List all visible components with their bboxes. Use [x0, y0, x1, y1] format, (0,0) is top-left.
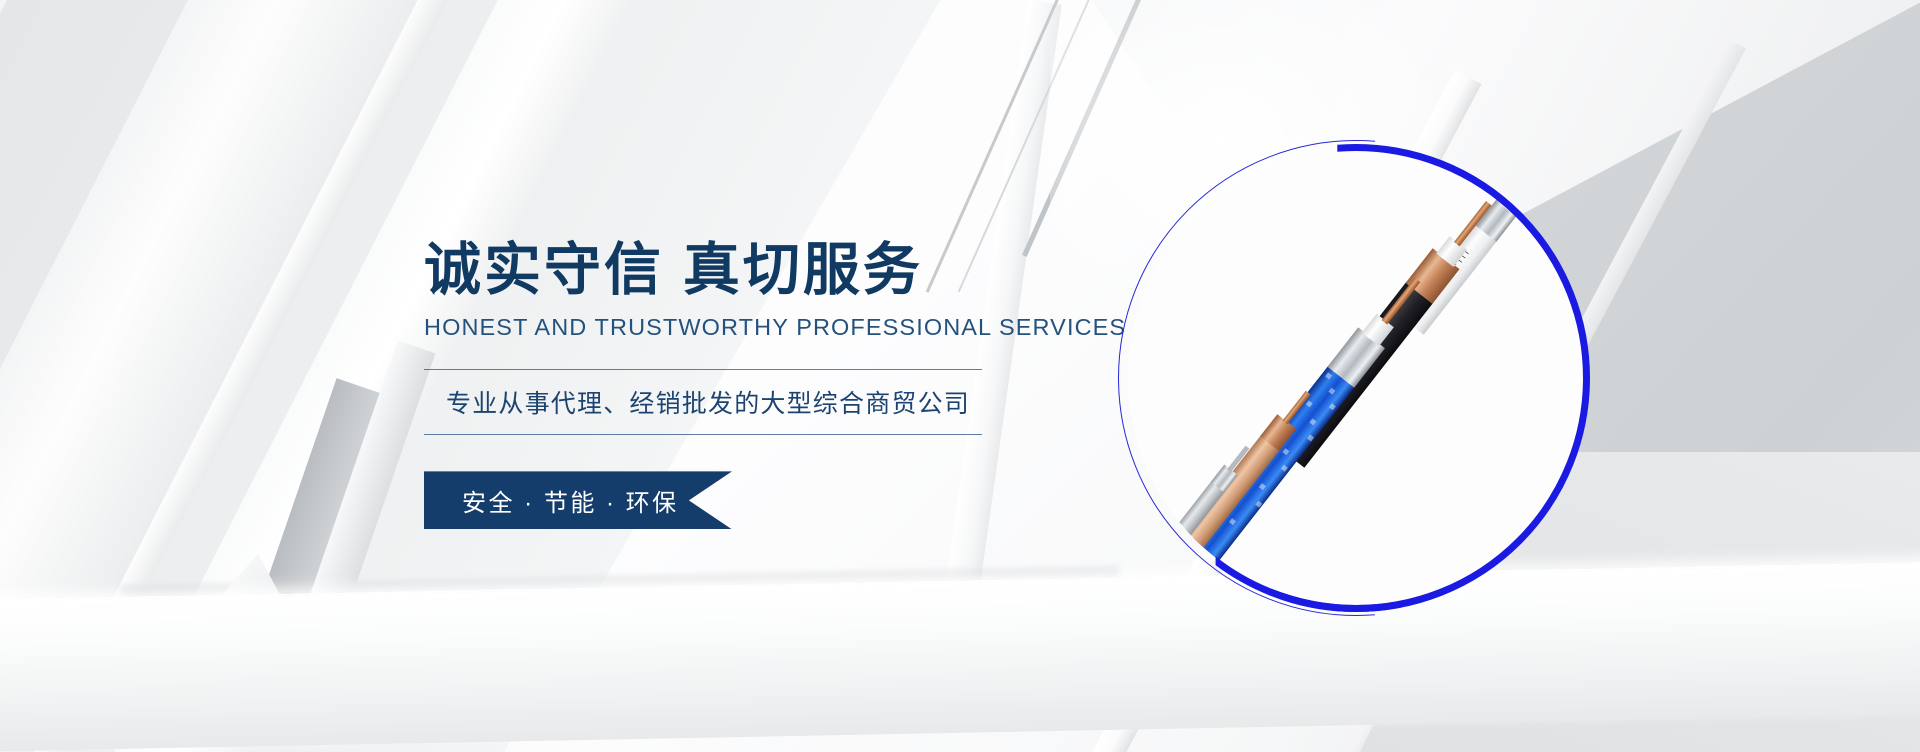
tagline-block: 专业从事代理、经销批发的大型综合商贸公司 — [424, 369, 982, 435]
hero-banner: 诚实守信 真切服务 HONEST AND TRUSTWORTHY PROFESS… — [0, 0, 1920, 752]
circular-cable-photo: |||·' ·- -·/ ) = — [1128, 150, 1584, 606]
hero-copy: 诚实守信 真切服务 HONEST AND TRUSTWORTHY PROFESS… — [424, 240, 1084, 529]
tagline-text: 专业从事代理、经销批发的大型综合商贸公司 — [424, 370, 982, 434]
divider-bottom — [424, 434, 982, 435]
divider-top — [424, 369, 982, 370]
status-badge: 安全 · 节能 · 环保 — [424, 483, 679, 518]
feature-badge: 安全 · 节能 · 环保 — [424, 471, 732, 529]
ribbon-shape: 安全 · 节能 · 环保 — [424, 471, 732, 529]
page-title: 诚实守信 真切服务 — [424, 240, 1084, 300]
subtitle-english: HONEST AND TRUSTWORTHY PROFESSIONAL SERV… — [424, 314, 1084, 341]
